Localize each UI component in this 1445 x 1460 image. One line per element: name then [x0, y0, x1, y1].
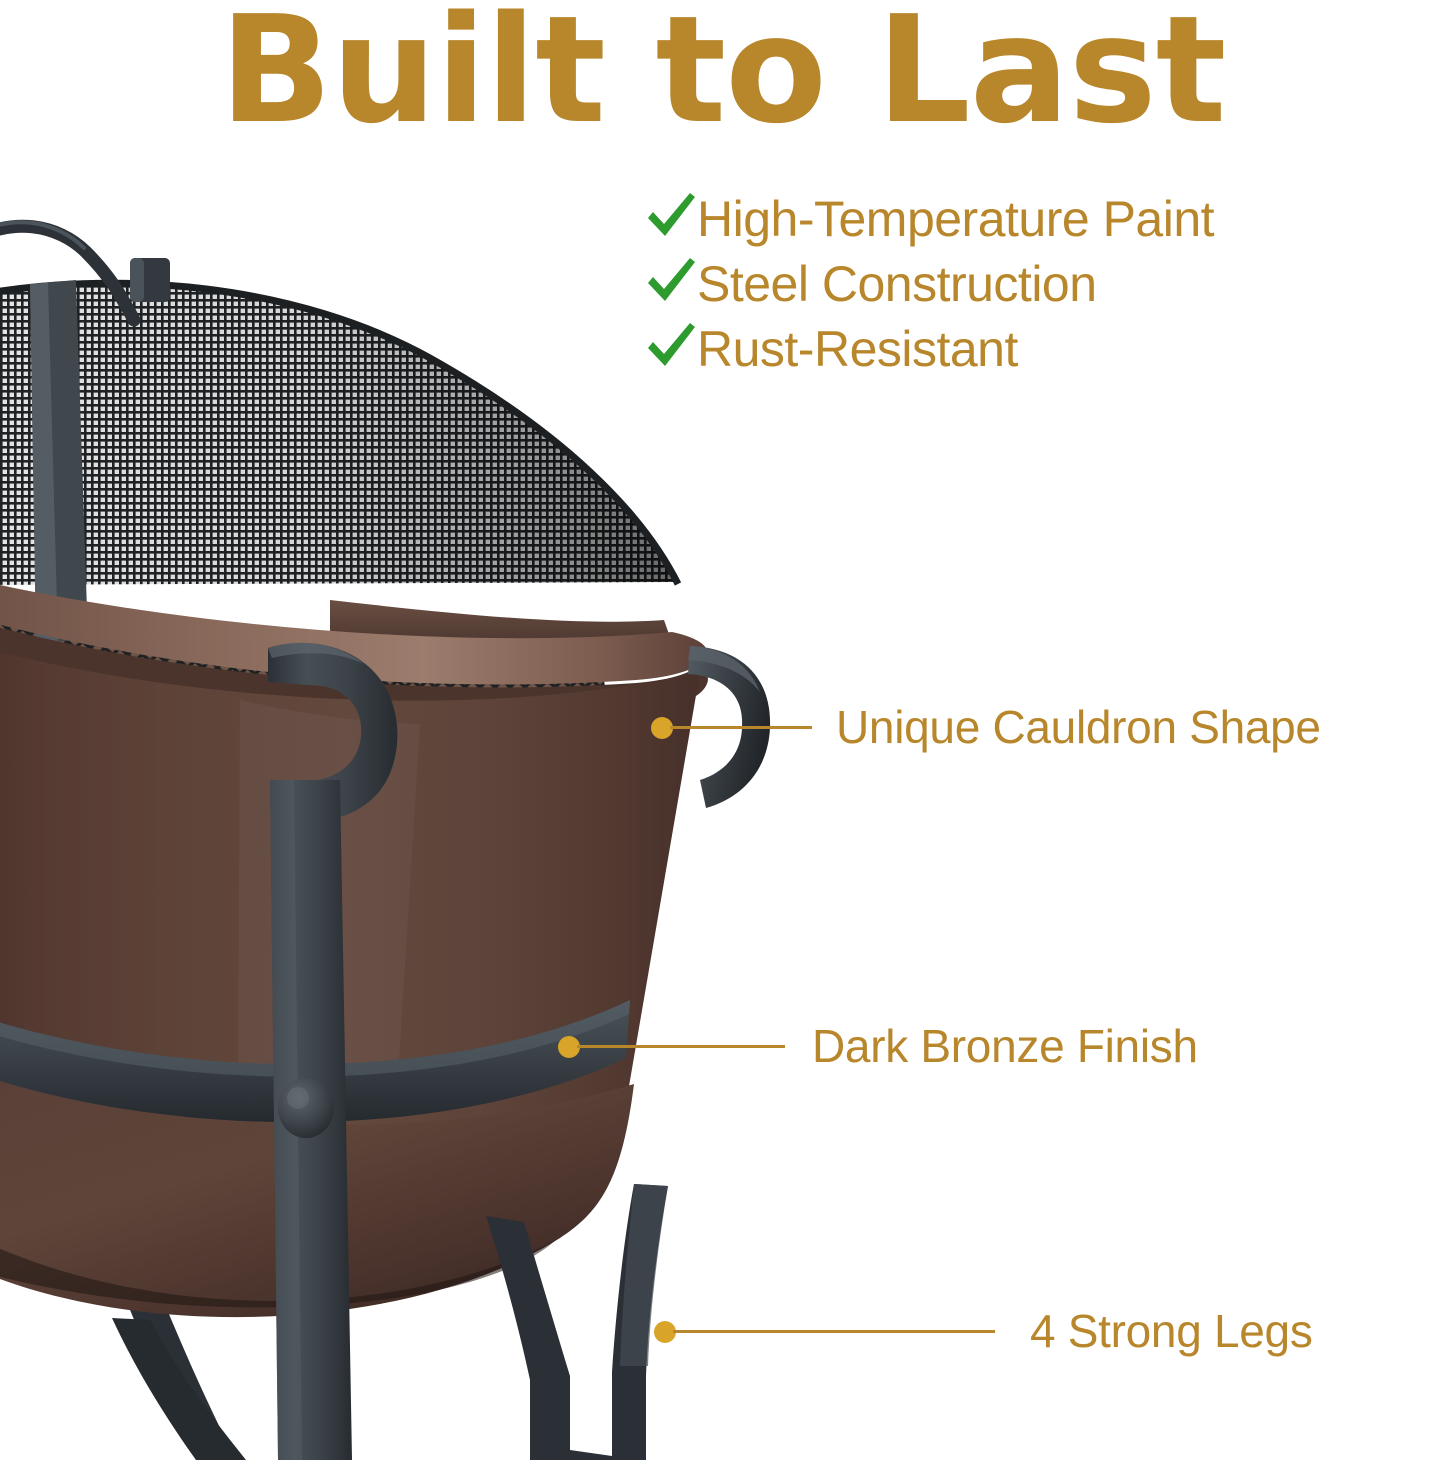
feature-label: High-Temperature Paint — [697, 188, 1214, 250]
callout-label: Unique Cauldron Shape — [836, 704, 1321, 750]
feature-item: Steel Construction — [645, 251, 1445, 316]
callout-label: 4 Strong Legs — [1030, 1308, 1313, 1354]
feature-item: Rust-Resistant — [645, 316, 1445, 381]
feature-checklist: High-Temperature Paint Steel Constructio… — [645, 186, 1445, 381]
band-rivet — [278, 1078, 334, 1138]
callout-leader-line — [577, 1045, 785, 1048]
feature-label: Steel Construction — [697, 253, 1097, 315]
check-icon — [645, 322, 697, 372]
callout-leader-line — [670, 726, 812, 729]
check-icon — [645, 257, 697, 307]
callout-label: Dark Bronze Finish — [812, 1023, 1198, 1069]
feature-item: High-Temperature Paint — [645, 186, 1445, 251]
feature-label: Rust-Resistant — [697, 318, 1018, 380]
product-infographic: Built to Last — [0, 0, 1445, 1460]
check-icon — [645, 192, 697, 242]
callout-leader-line — [673, 1330, 995, 1333]
page-title: Built to Last — [0, 0, 1445, 144]
